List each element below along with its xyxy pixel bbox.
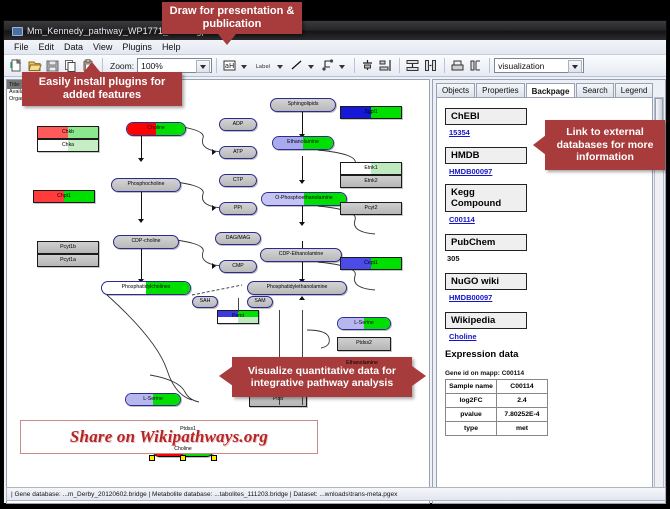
cell-value: 2.4 <box>497 394 548 408</box>
node-label: CDP-Ethanolamine <box>279 252 323 257</box>
node-label: PPi <box>234 206 242 211</box>
toolbar-separator-2 <box>216 58 217 73</box>
table-row: Sample name C00114 <box>446 380 548 394</box>
node-label: Sgpl1 <box>364 110 377 115</box>
selection-handle[interactable] <box>180 455 186 461</box>
node-adp[interactable]: ADP <box>219 118 257 131</box>
node-label: CTP <box>233 178 243 183</box>
callout-draw: Draw for presentation & publication <box>162 2 302 34</box>
expression-data-title: Expression data <box>445 349 646 360</box>
node-label: L-Serine <box>354 321 374 326</box>
node-label: ATP <box>233 150 243 155</box>
node-label: Chkb <box>62 130 74 135</box>
svg-text:Label: Label <box>256 64 271 70</box>
visualization-value: visualization <box>498 61 544 71</box>
node-ppi[interactable]: PPi <box>219 202 257 215</box>
db-header-pubchem: PubChem <box>445 234 527 251</box>
node-label: Ptdss1 <box>180 427 196 432</box>
gene-box-ptdss2[interactable]: Ptdss2 <box>337 337 391 351</box>
callout-pointer-links <box>533 135 546 155</box>
node-label: Pcyt2 <box>365 206 378 211</box>
chevron-down-icon-text[interactable] <box>239 58 250 74</box>
wikipathways-banner: Share on Wikipathways.org <box>20 420 318 454</box>
arrowhead <box>138 219 144 223</box>
db-header-nugo: NuGO wiki <box>445 273 527 290</box>
align-icon[interactable] <box>359 57 376 74</box>
db-value-pubchem: 305 <box>447 254 646 263</box>
callout-links: Link to external databases for more info… <box>545 120 665 170</box>
edge <box>141 249 142 281</box>
gene-box-sgpl1[interactable]: Sgpl1 <box>340 106 402 119</box>
status-text: | Gene database: ...m_Derby_20120602.bri… <box>7 491 397 498</box>
visualization-combo[interactable]: visualization <box>494 58 584 73</box>
arrowhead <box>212 149 216 155</box>
node-label: L-Serine <box>143 397 163 402</box>
tab-backpage[interactable]: Backpage <box>526 83 576 98</box>
node-label: Pemt <box>232 314 244 319</box>
node-label: DAG/MAG <box>226 236 251 241</box>
edge <box>238 298 239 312</box>
edge <box>302 112 303 136</box>
menu-item-view[interactable]: View <box>88 40 117 54</box>
node-l-serine-right[interactable]: L-Serine <box>337 317 391 330</box>
arrowhead <box>212 263 216 269</box>
callout-text: Link to external databases for more info… <box>550 126 660 163</box>
menu-item-file[interactable]: File <box>9 40 34 54</box>
tab-properties[interactable]: Properties <box>476 83 524 97</box>
node-label: Ptdss2 <box>356 341 372 346</box>
banner-text: Share on Wikipathways.org <box>70 427 268 447</box>
gene-box-pcyt1a[interactable]: Pcyt1a <box>37 254 99 267</box>
gene-box-etnk1[interactable]: Etnk1 <box>340 162 402 175</box>
gene-box-chkb[interactable]: Chkb <box>37 126 99 139</box>
node-ctp[interactable]: CTP <box>219 174 257 187</box>
node-label: SAM <box>254 299 265 304</box>
node-label: Pisd <box>273 397 283 402</box>
cell-label: pvalue <box>446 408 497 422</box>
menu-item-help[interactable]: Help <box>157 40 186 54</box>
db-header-chebi: ChEBI <box>445 108 527 125</box>
chevron-down-icon-interaction[interactable] <box>337 58 348 74</box>
node-choline-top[interactable]: Choline <box>126 122 186 136</box>
title-bar: Mm_Kennedy_pathway_WP1771_45176.gpml <box>4 21 666 40</box>
callout-pointer-visualize <box>219 366 233 386</box>
svg-text:aH: aH <box>225 62 235 70</box>
zoom-value: 100% <box>141 61 163 71</box>
node-label: Ethanolamine <box>346 361 378 366</box>
node-label: Etnk1 <box>364 166 377 171</box>
node-label: Chka <box>62 143 74 148</box>
tab-objects[interactable]: Objects <box>436 83 475 97</box>
tab-search[interactable]: Search <box>576 83 613 97</box>
node-phosphatidylethanolamine[interactable]: Phosphatidylethanolamine <box>247 281 347 295</box>
callout-pointer-plugins <box>83 62 101 73</box>
node-ethanolamine[interactable]: Ethanolamine <box>272 136 334 150</box>
toolbar-separator-5 <box>444 58 445 73</box>
panel-tabs: Objects Properties Backpage Search Legen… <box>436 82 654 97</box>
node-label: Phosphatidylethanolamine <box>267 285 328 290</box>
node-label: O-Phosphoethanolamine <box>275 196 332 201</box>
node-label: Pcyt1b <box>60 245 76 250</box>
db-link-nugo[interactable]: HMDB00097 <box>449 293 646 302</box>
gene-box-pcyt1b[interactable]: Pcyt1b <box>37 241 99 254</box>
callout-pointer-draw <box>218 34 236 45</box>
node-label: Sphingolipids <box>288 102 319 107</box>
node-atp[interactable]: ATP <box>219 146 257 159</box>
cell-label: log2FC <box>446 394 497 408</box>
gene-id-label: Gene id on mapp: C00114 <box>445 370 646 377</box>
callout-visualize: Visualize quantitative data for integrat… <box>232 357 412 397</box>
node-phosphocholine[interactable]: Phosphocholine <box>111 178 181 192</box>
cell-value: C00114 <box>497 380 548 394</box>
zoom-label: Zoom: <box>110 61 134 71</box>
toolbar-separator-4 <box>399 58 400 73</box>
cell-value: 7.80252E-4 <box>497 408 548 422</box>
edge <box>141 191 142 221</box>
node-label: Phosphocholine <box>128 182 165 187</box>
arrowhead <box>299 180 305 184</box>
app-icon <box>11 25 22 36</box>
arrowhead <box>299 222 305 226</box>
node-label: Chpt1 <box>57 194 71 199</box>
tab-legend[interactable]: Legend <box>615 83 654 97</box>
expression-table: Sample name C00114 log2FC 2.4 pvalue 7.8… <box>445 379 548 436</box>
toolbar-separator <box>102 58 103 73</box>
db-link-wikipedia[interactable]: Choline <box>449 332 646 341</box>
group-icon[interactable] <box>467 57 484 74</box>
node-label: ADP <box>233 122 244 127</box>
node-l-serine-left[interactable]: L-Serine <box>125 393 181 406</box>
edge <box>141 136 142 160</box>
node-sphingolipids[interactable]: Sphingolipids <box>270 98 336 112</box>
toolbar-separator-6 <box>489 58 490 73</box>
text-icon[interactable]: aH <box>221 57 238 74</box>
gene-box-pcyt2[interactable]: Pcyt2 <box>340 202 402 215</box>
status-bar: | Gene database: ...m_Derby_20120602.bri… <box>6 487 666 501</box>
cell-label: Sample name <box>446 380 497 394</box>
node-label: Choline <box>174 447 192 452</box>
order-icon[interactable] <box>449 57 466 74</box>
interaction-icon[interactable] <box>319 57 336 74</box>
db-header-hmdb: HMDB <box>445 147 527 164</box>
node-label: Ethanolamine <box>287 140 319 145</box>
table-row: pvalue 7.80252E-4 <box>446 408 548 422</box>
table-row: type met <box>446 422 548 436</box>
gene-box-chka[interactable]: Chka <box>37 139 99 152</box>
arrowhead <box>138 158 144 162</box>
node-label: Phosphatidylcholines <box>122 285 171 290</box>
distribute-icon[interactable] <box>377 57 394 74</box>
menu-item-plugins[interactable]: Plugins <box>117 40 157 54</box>
gene-box-chpt1[interactable]: Chpt1 <box>33 190 95 203</box>
db-header-wikipedia: Wikipedia <box>445 312 527 329</box>
selection-handle[interactable] <box>211 455 217 461</box>
table-row: log2FC 2.4 <box>446 394 548 408</box>
label-icon[interactable]: Label <box>252 57 274 74</box>
node-o-phosphoethanolamine[interactable]: O-Phosphoethanolamine <box>261 192 347 206</box>
callout-plugins: Easily install plugins for added feature… <box>22 72 182 106</box>
node-cmp[interactable]: CMP <box>219 260 257 273</box>
menu-item-data[interactable]: Data <box>59 40 88 54</box>
node-label: Choline <box>147 126 165 131</box>
node-cdp-ethanolamine[interactable]: CDP-Ethanolamine <box>260 248 342 262</box>
chevron-down-icon[interactable] <box>196 60 210 73</box>
node-label: CMP <box>232 264 244 269</box>
menu-item-edit[interactable]: Edit <box>34 40 60 54</box>
callout-text: Draw for presentation & publication <box>168 5 296 31</box>
edge <box>302 156 303 182</box>
db-link-kegg[interactable]: C00114 <box>449 215 646 224</box>
node-sah[interactable]: SAH <box>192 296 218 308</box>
spacing-icon[interactable] <box>422 57 439 74</box>
node-label: Cept1 <box>364 261 378 266</box>
zoom-combo[interactable]: 100% <box>137 58 212 73</box>
cell-label: type <box>446 422 497 436</box>
node-cdp-choline[interactable]: CDP-choline <box>113 235 179 249</box>
node-label: Etnk2 <box>364 179 377 184</box>
chevron-down-icon-visualization[interactable] <box>568 60 582 73</box>
stack-icon[interactable] <box>404 57 421 74</box>
arrowhead <box>212 205 216 211</box>
cell-value: met <box>497 422 548 436</box>
node-sam[interactable]: SAM <box>247 296 273 308</box>
screenshot-root: Mm_Kennedy_pathway_WP1771_45176.gpml Fil… <box>0 0 670 509</box>
toolbar-separator-3 <box>354 58 355 73</box>
gene-box-pemt[interactable]: Pemt <box>217 310 259 324</box>
chevron-down-icon-line[interactable] <box>306 58 317 74</box>
db-header-kegg: Kegg Compound <box>445 184 527 212</box>
line-icon[interactable] <box>288 57 305 74</box>
node-label: CDP-choline <box>131 239 160 244</box>
callout-text: Easily install plugins for added feature… <box>28 76 176 102</box>
callout-pointer-visualize-right <box>412 366 426 386</box>
chevron-down-icon-label[interactable] <box>275 58 286 74</box>
callout-text: Visualize quantitative data for integrat… <box>237 365 407 390</box>
gene-box-cept1[interactable]: Cept1 <box>340 257 402 270</box>
node-label: Pcyt1a <box>60 258 76 263</box>
gene-box-etnk2[interactable]: Etnk2 <box>340 175 402 188</box>
node-dag-mag[interactable]: DAG/MAG <box>215 232 261 245</box>
menu-bar: File Edit Data View Plugins Help <box>4 40 666 55</box>
arrowhead <box>299 296 305 300</box>
selection-handle[interactable] <box>149 455 155 461</box>
node-phosphatidylcholines[interactable]: Phosphatidylcholines <box>101 281 191 295</box>
node-label: SAH <box>200 299 211 304</box>
